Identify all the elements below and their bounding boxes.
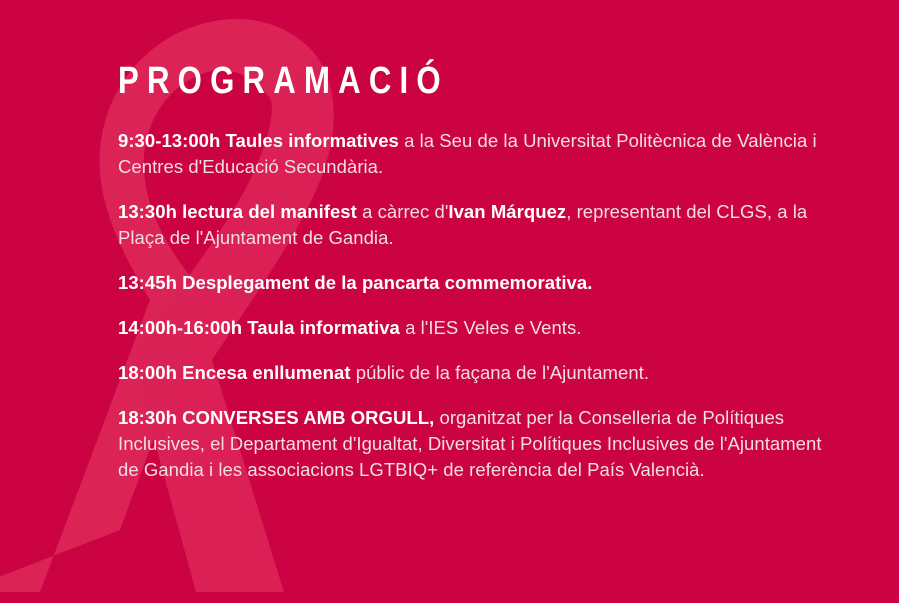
schedule-item-lead: 18:00h Encesa enllumenat xyxy=(118,362,351,383)
list-item: 14:00h-16:00h Taula informativa a l'IES … xyxy=(118,315,844,341)
schedule-item-speaker: Ivan Márquez xyxy=(448,201,566,222)
schedule-item-lead: 18:30h CONVERSES AMB ORGULL, xyxy=(118,407,434,428)
schedule-list: 9:30-13:00h Taules informatives a la Seu… xyxy=(118,128,844,483)
poster-content: PROGRAMACIÓ 9:30-13:00h Taules informati… xyxy=(118,62,844,483)
list-item: 13:30h lectura del manifest a càrrec d'I… xyxy=(118,199,844,251)
list-item: 18:30h CONVERSES AMB ORGULL, organitzat … xyxy=(118,405,844,483)
schedule-item-lead: 9:30-13:00h Taules informatives xyxy=(118,130,399,151)
schedule-item-detail: a càrrec d' xyxy=(357,201,449,222)
programacio-poster: PROGRAMACIÓ 9:30-13:00h Taules informati… xyxy=(0,0,899,603)
list-item: 9:30-13:00h Taules informatives a la Seu… xyxy=(118,128,844,180)
schedule-item-detail: a l'IES Veles e Vents. xyxy=(400,317,582,338)
schedule-item-lead: 13:45h Desplegament de la pancarta comme… xyxy=(118,272,592,293)
page-title: PROGRAMACIÓ xyxy=(118,62,713,102)
schedule-item-lead: 13:30h lectura del manifest xyxy=(118,201,357,222)
schedule-item-detail: públic de la façana de l'Ajuntament. xyxy=(351,362,650,383)
list-item: 18:00h Encesa enllumenat públic de la fa… xyxy=(118,360,844,386)
list-item: 13:45h Desplegament de la pancarta comme… xyxy=(118,270,844,296)
schedule-item-lead: 14:00h-16:00h Taula informativa xyxy=(118,317,400,338)
